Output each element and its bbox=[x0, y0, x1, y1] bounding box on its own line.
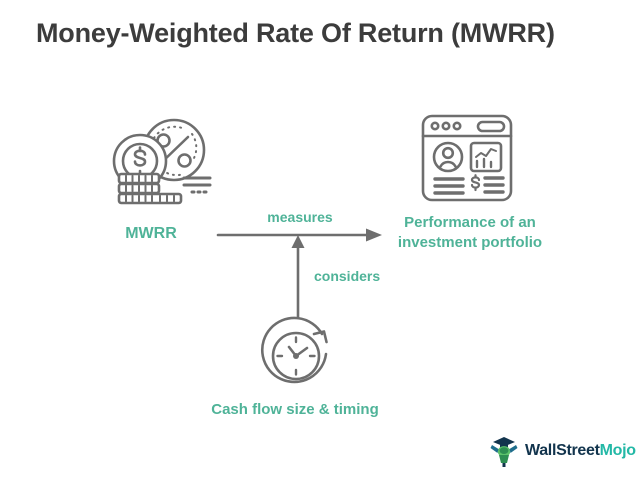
dashboard-window-icon bbox=[419, 112, 515, 204]
wallstreetmojo-mascot-icon bbox=[487, 434, 521, 468]
node-label-mwrr: MWRR bbox=[86, 225, 216, 243]
coins-percentage-icon bbox=[104, 112, 220, 208]
performance-label-line-2: investment portfolio bbox=[398, 234, 542, 251]
performance-label-line-1: Performance of an bbox=[404, 214, 536, 231]
page-title: Money-Weighted Rate Of Return (MWRR) bbox=[36, 18, 616, 49]
wallstreetmojo-logo[interactable]: WallStreetMojo bbox=[487, 431, 623, 471]
edge-label-measures: measures bbox=[232, 209, 368, 225]
logo-text-primary: WallStreet bbox=[525, 442, 600, 459]
infographic-canvas: Money-Weighted Rate Of Return (MWRR) bbox=[0, 0, 640, 486]
node-label-performance: Performance of aninvestment portfolio bbox=[372, 213, 568, 254]
logo-text-accent: Mojo bbox=[600, 442, 636, 459]
edge-label-considers: considers bbox=[314, 268, 380, 284]
wallstreetmojo-wordmark: WallStreetMojo bbox=[525, 442, 636, 460]
node-label-cashflow: Cash flow size & timing bbox=[185, 401, 405, 418]
arrow-up-considers-icon bbox=[286, 234, 310, 320]
clock-refresh-icon bbox=[252, 312, 344, 396]
